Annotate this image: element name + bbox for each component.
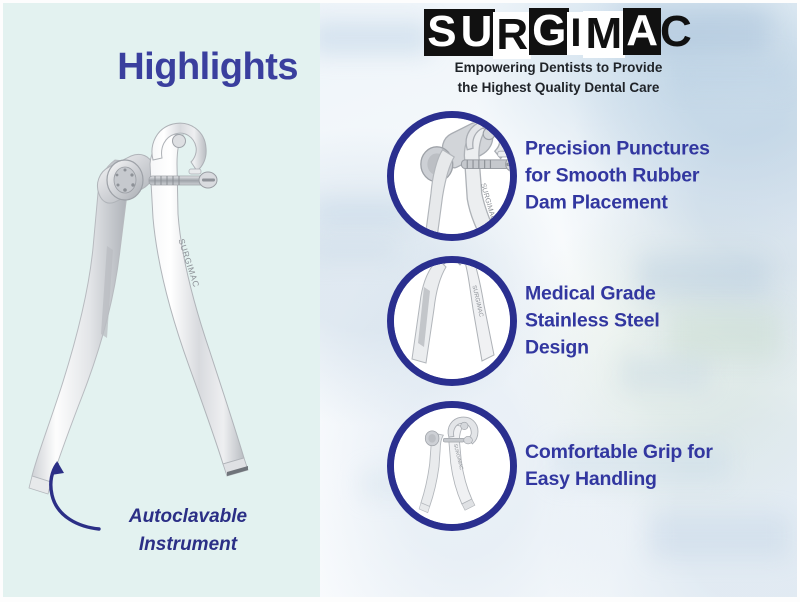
punch-full-view-illustration: SURGIMAC	[394, 408, 510, 524]
feature-item: SURGIMAC Comfortable Grip for Easy Handl…	[320, 401, 797, 531]
logo-letter-s: S	[424, 9, 459, 56]
feature-image-clip: SURGIMAC	[394, 408, 510, 524]
autoclavable-annotation: Autoclavable Instrument	[73, 503, 303, 558]
feature-line-1: Precision Punctures	[525, 136, 787, 163]
left-handle	[32, 160, 128, 482]
logo-letter-r: R	[493, 12, 531, 59]
punch-handles-closeup-illustration: SURGIMAC	[394, 263, 510, 379]
logo-letter-m: M	[583, 11, 626, 58]
feature-text: Comfortable Grip for Easy Handling	[525, 439, 787, 493]
feature-item: SURGIMAC Medical Grade Stainless Steel D…	[320, 256, 797, 386]
features-panel: SURGIMAC Empowering Dentists to Provide …	[320, 3, 797, 597]
brand-tagline: Empowering Dentists to Provide the Highe…	[320, 58, 797, 97]
logo-letter-g: G	[529, 8, 569, 55]
feature-item: SURGIMAC Precision Punctures for Smooth …	[320, 111, 797, 241]
feature-text: Precision Punctures for Smooth Rubber Da…	[525, 136, 787, 217]
hero-product-image: SURGIMAC	[3, 98, 320, 498]
feature-line-2: Stainless Steel	[525, 308, 787, 335]
feature-image-circle: SURGIMAC	[387, 256, 517, 386]
feature-text: Medical Grade Stainless Steel Design	[525, 281, 787, 362]
tagline-line-2: the Highest Quality Dental Care	[320, 78, 797, 98]
page-title: Highlights	[117, 48, 298, 86]
feature-image-clip: SURGIMAC	[394, 263, 510, 379]
brand-wordmark: SURGIMAC	[425, 9, 692, 56]
feature-line-2: for Smooth Rubber	[525, 163, 787, 190]
feature-image-clip: SURGIMAC	[394, 118, 510, 234]
feature-line-2: Easy Handling	[525, 466, 787, 493]
annotation-line-2: Instrument	[73, 531, 303, 559]
feature-image-circle: SURGIMAC	[387, 111, 517, 241]
feature-line-3: Dam Placement	[525, 189, 787, 216]
feature-line-3: Design	[525, 334, 787, 361]
logo-letter-c: C	[659, 9, 693, 56]
logo-letter-u: U	[458, 9, 496, 56]
tagline-line-1: Empowering Dentists to Provide	[320, 58, 797, 78]
highlights-panel: Highlights	[3, 3, 320, 597]
feature-line-1: Medical Grade	[525, 281, 787, 308]
brand-logo: SURGIMAC	[320, 9, 797, 56]
feature-line-1: Comfortable Grip for	[525, 439, 787, 466]
rubber-dam-punch-illustration: SURGIMAC	[3, 98, 320, 498]
logo-letter-a: A	[623, 8, 661, 55]
punch-head-closeup-illustration: SURGIMAC	[394, 118, 510, 234]
infographic-page: Highlights	[0, 0, 800, 602]
feature-image-circle: SURGIMAC	[387, 401, 517, 531]
hinge-pivot	[173, 135, 186, 148]
annotation-line-1: Autoclavable	[73, 503, 303, 531]
